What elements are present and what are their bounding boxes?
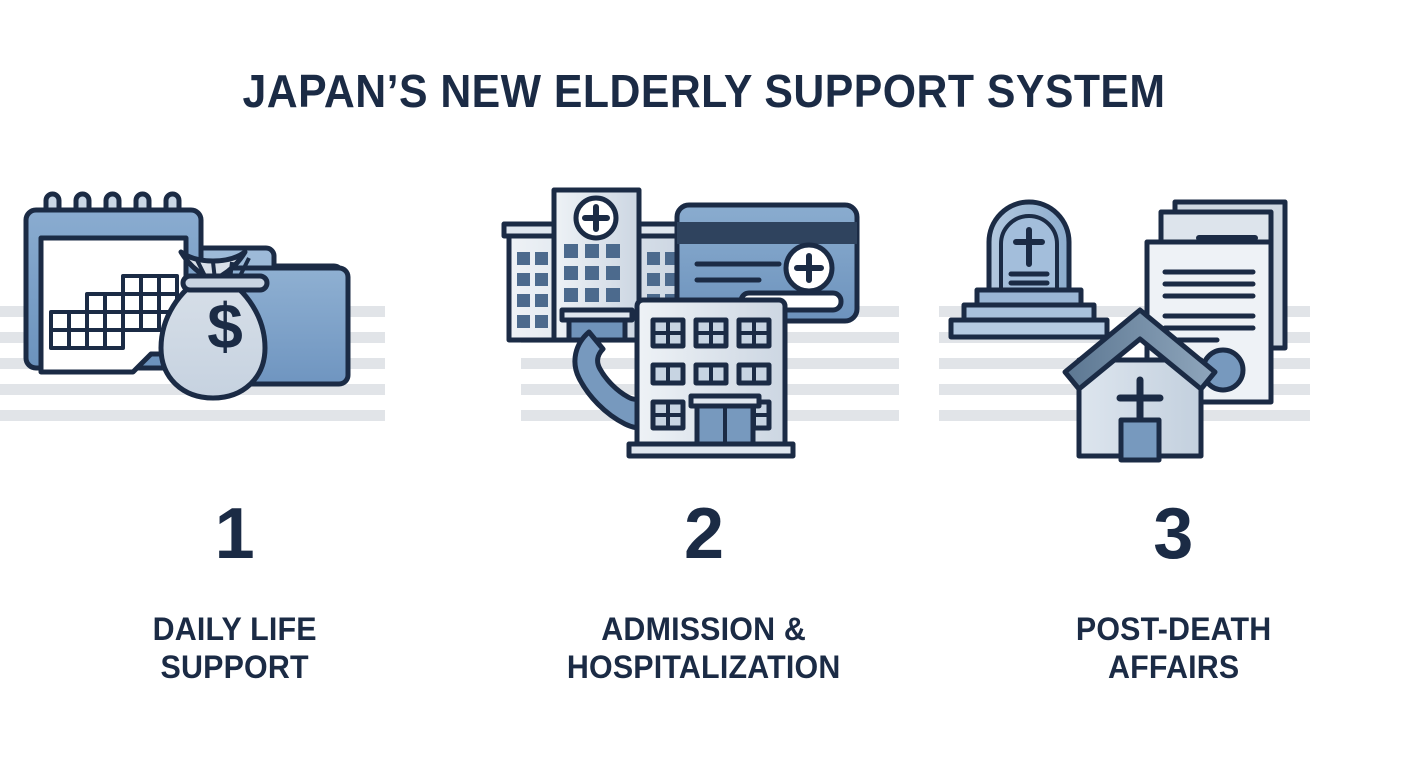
page-title: JAPAN’S NEW ELDERLY SUPPORT SYSTEM [49, 64, 1358, 118]
step-number-2: 2 [469, 498, 938, 570]
step-label-2: ADMISSION & HOSPITALIZATION [481, 610, 927, 686]
step-panel-3: 3 POST-DEATH AFFAIRS [939, 180, 1408, 740]
money-bag-symbol: $ [207, 290, 243, 362]
step-label-line: ADMISSION & [481, 610, 927, 648]
step-label-line: SUPPORT [12, 648, 458, 686]
step-label-line: AFFAIRS [950, 648, 1396, 686]
step-label-line: POST-DEATH [950, 610, 1396, 648]
step-label-3: POST-DEATH AFFAIRS [950, 610, 1396, 686]
step-label-line: HOSPITALIZATION [481, 648, 927, 686]
step-label-line: DAILY LIFE [12, 610, 458, 648]
step-label-1: DAILY LIFE SUPPORT [12, 610, 458, 686]
steps-row: $ 1 DAILY LIFE SUPPORT [0, 180, 1408, 740]
step-3-illustration [939, 180, 1408, 470]
step-panel-1: $ 1 DAILY LIFE SUPPORT [0, 180, 469, 740]
step-panel-2: 2 ADMISSION & HOSPITALIZATION [469, 180, 938, 740]
step-number-1: 1 [0, 498, 469, 570]
apartment-icon [629, 300, 793, 456]
step-1-illustration: $ [0, 180, 469, 470]
step-2-illustration [469, 180, 938, 470]
step-number-3: 3 [939, 498, 1408, 570]
gravestone-icon [951, 202, 1107, 337]
